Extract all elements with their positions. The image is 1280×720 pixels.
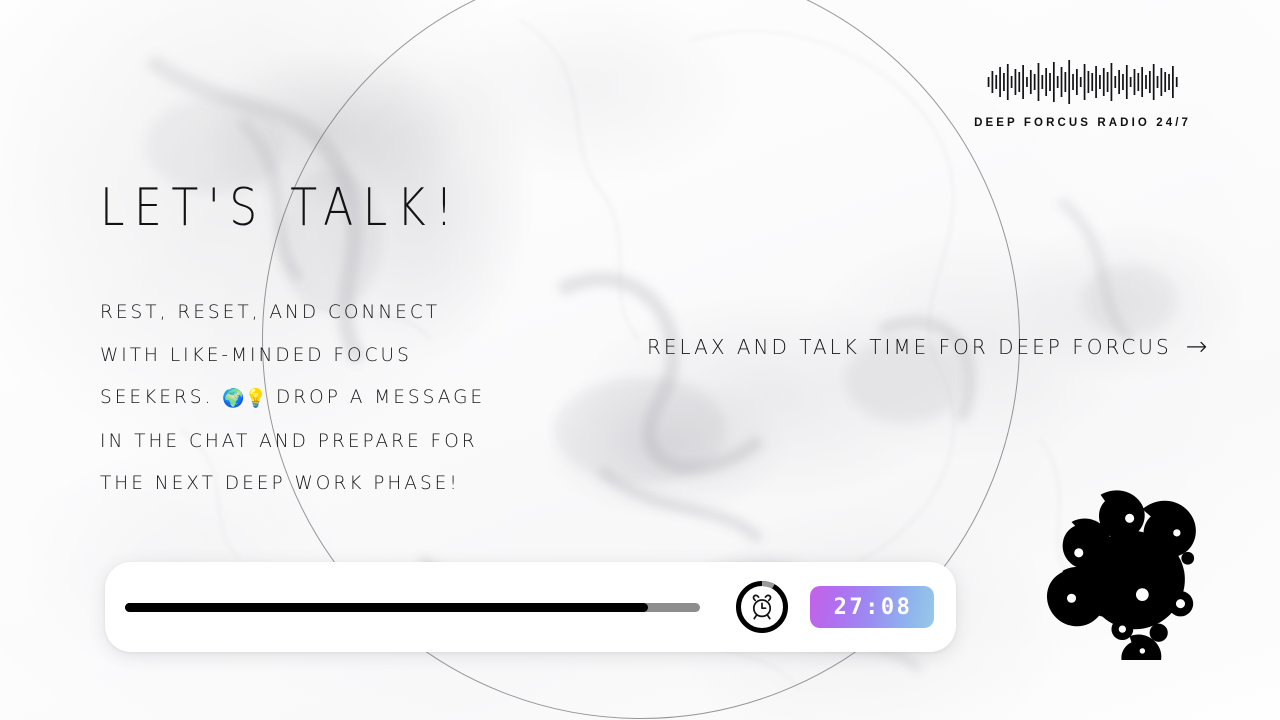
body-line-1: REST, RESET, AND CONNECT [100,292,570,335]
brand-logo-text: DEEP FORCUS RADIO 24/7 [974,117,1191,129]
progress-fill [125,603,648,612]
player-bar: 27:08 [105,562,956,652]
timer-badge[interactable]: 27:08 [810,586,934,628]
page-title: LET'S TALK! [100,178,462,238]
alarm-clock-icon [748,593,776,621]
slide-canvas: DEEP FORCUS RADIO 24/7 LET'S TALK! REST,… [0,0,1280,720]
body-line-2: WITH LIKE-MINDED FOCUS [100,335,570,378]
audio-waveform-icon [987,56,1179,108]
progress-track[interactable] [125,603,700,612]
globe-icon: 🌍 [222,388,244,409]
body-line-3-post: DROP A MESSAGE [267,387,485,408]
callout-link[interactable]: RELAX AND TALK TIME FOR DEEP FORCUS → [647,334,1207,360]
progress-bar[interactable] [125,603,700,612]
body-line-3: SEEKERS. 🌍💡 DROP A MESSAGE [100,377,570,421]
arrow-right-icon: → [1186,334,1208,360]
timer-value: 27:08 [832,595,913,620]
callout-label: RELAX AND TALK TIME FOR DEEP FORCUS [647,335,1172,359]
body-line-4: IN THE CHAT AND PREPARE FOR [100,421,570,464]
brand-logo: DEEP FORCUS RADIO 24/7 [974,56,1191,129]
body-line-5: THE NEXT DEEP WORK PHASE! [100,463,570,506]
alarm-clock-button[interactable] [734,579,790,635]
body-line-3-pre: SEEKERS. [100,387,222,408]
lightbulb-icon: 💡 [245,388,267,409]
abstract-bubble-ornament [1035,482,1217,660]
body-paragraph: REST, RESET, AND CONNECT WITH LIKE-MINDE… [100,292,570,506]
